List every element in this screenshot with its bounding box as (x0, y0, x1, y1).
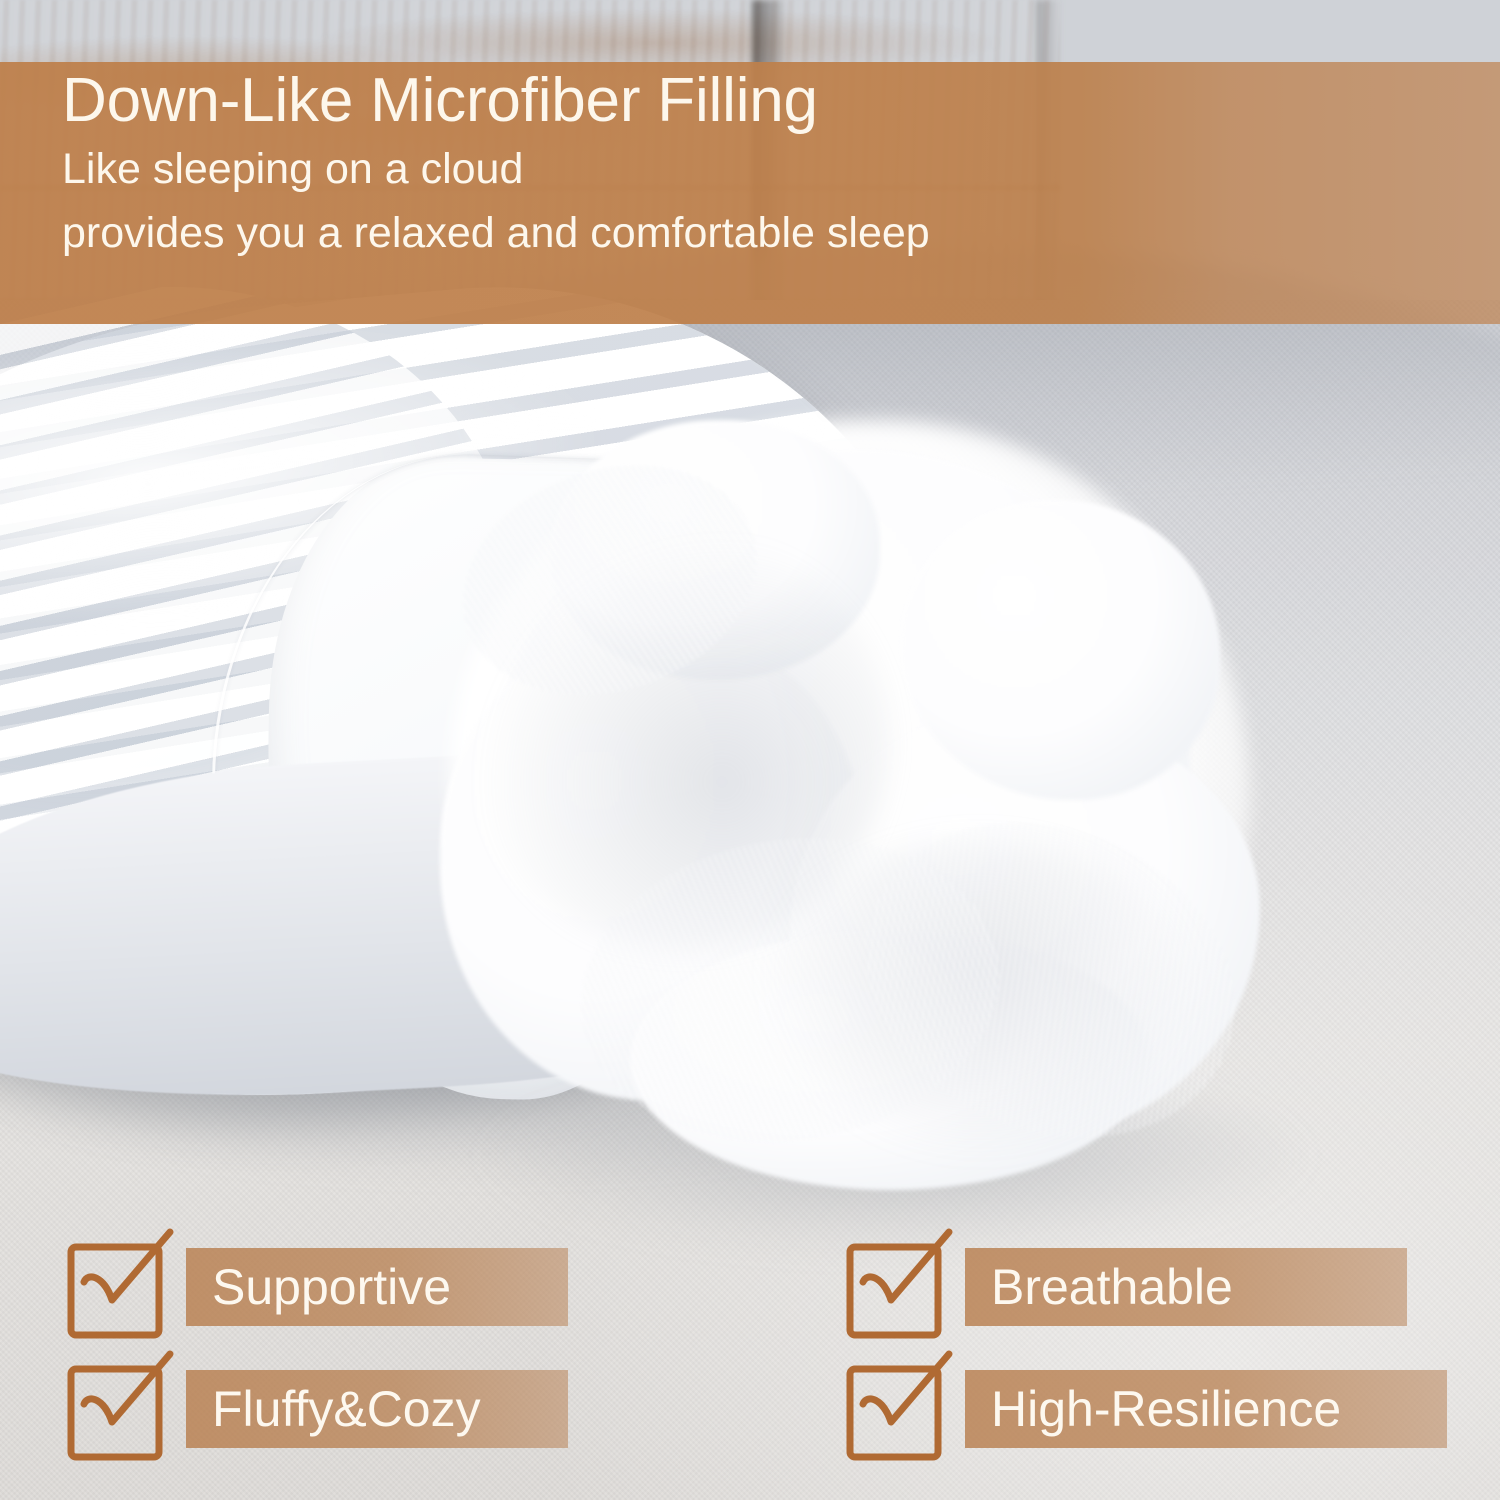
checkbox-check-icon (845, 1356, 951, 1462)
feature-badge-fluffy-cozy: Fluffy&Cozy (66, 1356, 568, 1462)
header-banner: Down-Like Microfiber Filling Like sleepi… (0, 62, 1500, 324)
feature-label-bar: Breathable (965, 1248, 1407, 1326)
feature-badge-breathable: Breathable (845, 1234, 1407, 1340)
feature-badge-group: Supportive Fluffy&Cozy Bre (0, 1228, 1500, 1478)
feature-label-bar: Fluffy&Cozy (186, 1370, 568, 1448)
banner-subline-1: Like sleeping on a cloud (62, 142, 1500, 198)
product-feature-image: Down-Like Microfiber Filling Like sleepi… (0, 0, 1500, 1500)
banner-headline: Down-Like Microfiber Filling (62, 68, 1500, 134)
feature-badge-high-resilience: High-Resilience (845, 1356, 1447, 1462)
feature-label: Breathable (991, 1262, 1233, 1312)
checkbox-check-icon (845, 1234, 951, 1340)
feature-label-bar: High-Resilience (965, 1370, 1447, 1448)
checkbox-check-icon (66, 1356, 172, 1462)
feature-badge-supportive: Supportive (66, 1234, 568, 1340)
feature-label: Supportive (212, 1262, 451, 1312)
microfiber-filling-cluster (430, 410, 1260, 1170)
checkbox-check-icon (66, 1234, 172, 1340)
banner-subline-2: provides you a relaxed and comfortable s… (62, 206, 1500, 262)
feature-label-bar: Supportive (186, 1248, 568, 1326)
feature-label: High-Resilience (991, 1384, 1341, 1434)
feature-label: Fluffy&Cozy (212, 1384, 481, 1434)
